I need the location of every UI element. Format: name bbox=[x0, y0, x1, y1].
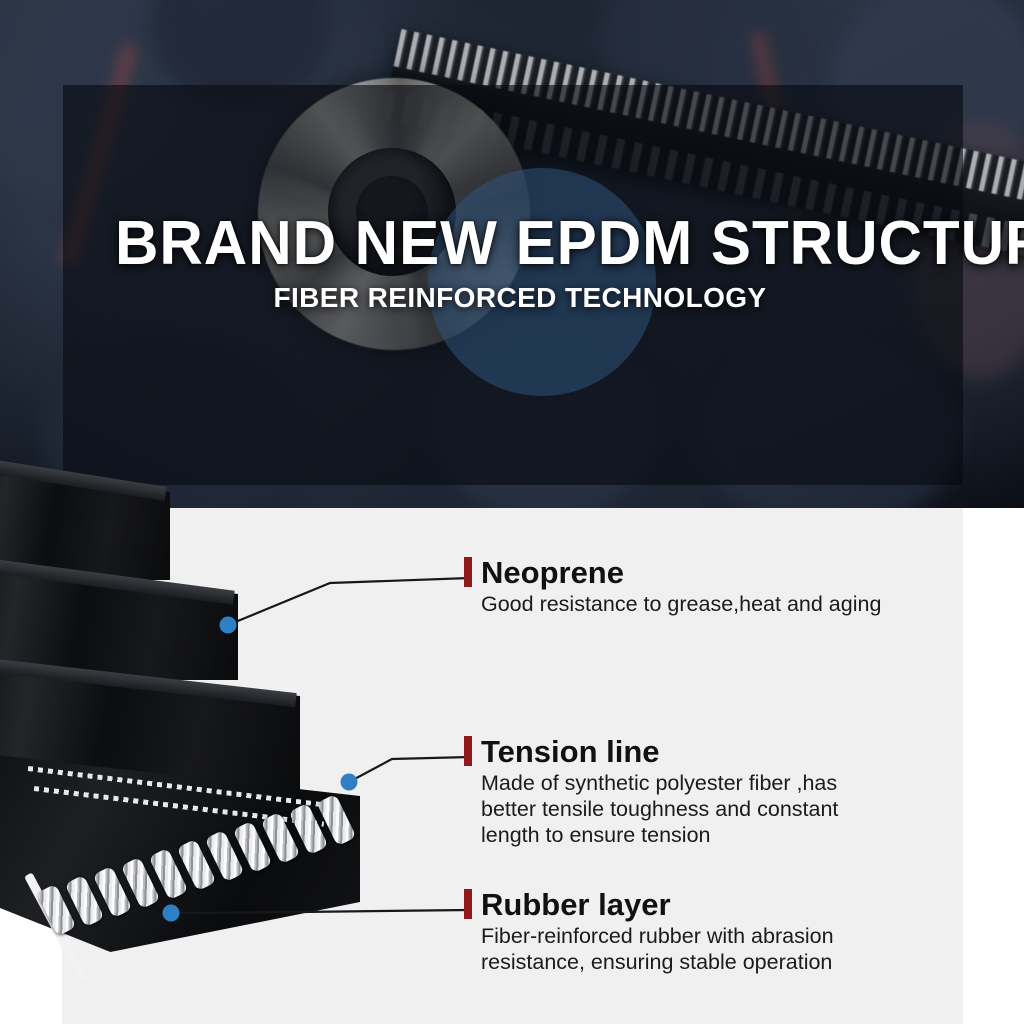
callout-body-line: better tensile toughness and constant bbox=[481, 796, 838, 822]
red-accent-bar-icon bbox=[464, 889, 472, 919]
hero-subheadline: FIBER REINFORCED TECHNOLOGY bbox=[115, 283, 925, 313]
callout-body: Good resistance to grease,heat and aging bbox=[464, 591, 881, 617]
callout-title: Rubber layer bbox=[481, 888, 671, 921]
callout-body-line: resistance, ensuring stable operation bbox=[481, 949, 834, 975]
callout-rubber-layer: Rubber layer Fiber-reinforced rubber wit… bbox=[464, 888, 834, 975]
v-belt-product-photo bbox=[0, 400, 420, 1024]
callout-title: Tension line bbox=[481, 735, 660, 768]
callout-body-line: Made of synthetic polyester fiber ,has bbox=[481, 770, 838, 796]
callout-title-row: Rubber layer bbox=[464, 888, 834, 921]
hero-headline: BRAND NEW EPDM STRUCTURE bbox=[115, 212, 901, 276]
red-accent-bar-icon bbox=[464, 557, 472, 587]
callout-body: Made of synthetic polyester fiber ,has b… bbox=[464, 770, 838, 848]
callout-title-row: Neoprene bbox=[464, 556, 881, 589]
red-accent-bar-icon bbox=[464, 736, 472, 766]
callout-neoprene: Neoprene Good resistance to grease,heat … bbox=[464, 556, 881, 617]
callout-body-line: Fiber-reinforced rubber with abrasion bbox=[481, 923, 834, 949]
callout-body-line: length to ensure tension bbox=[481, 822, 838, 848]
callout-title-row: Tension line bbox=[464, 735, 838, 768]
callout-body-line: Good resistance to grease,heat and aging bbox=[481, 591, 881, 617]
right-margin bbox=[963, 508, 1024, 1024]
callout-tension-line: Tension line Made of synthetic polyester… bbox=[464, 735, 838, 848]
infographic-page: BRAND NEW EPDM STRUCTURE FIBER REINFORCE… bbox=[0, 0, 1024, 1024]
callout-body: Fiber-reinforced rubber with abrasion re… bbox=[464, 923, 834, 975]
callout-title: Neoprene bbox=[481, 556, 624, 589]
